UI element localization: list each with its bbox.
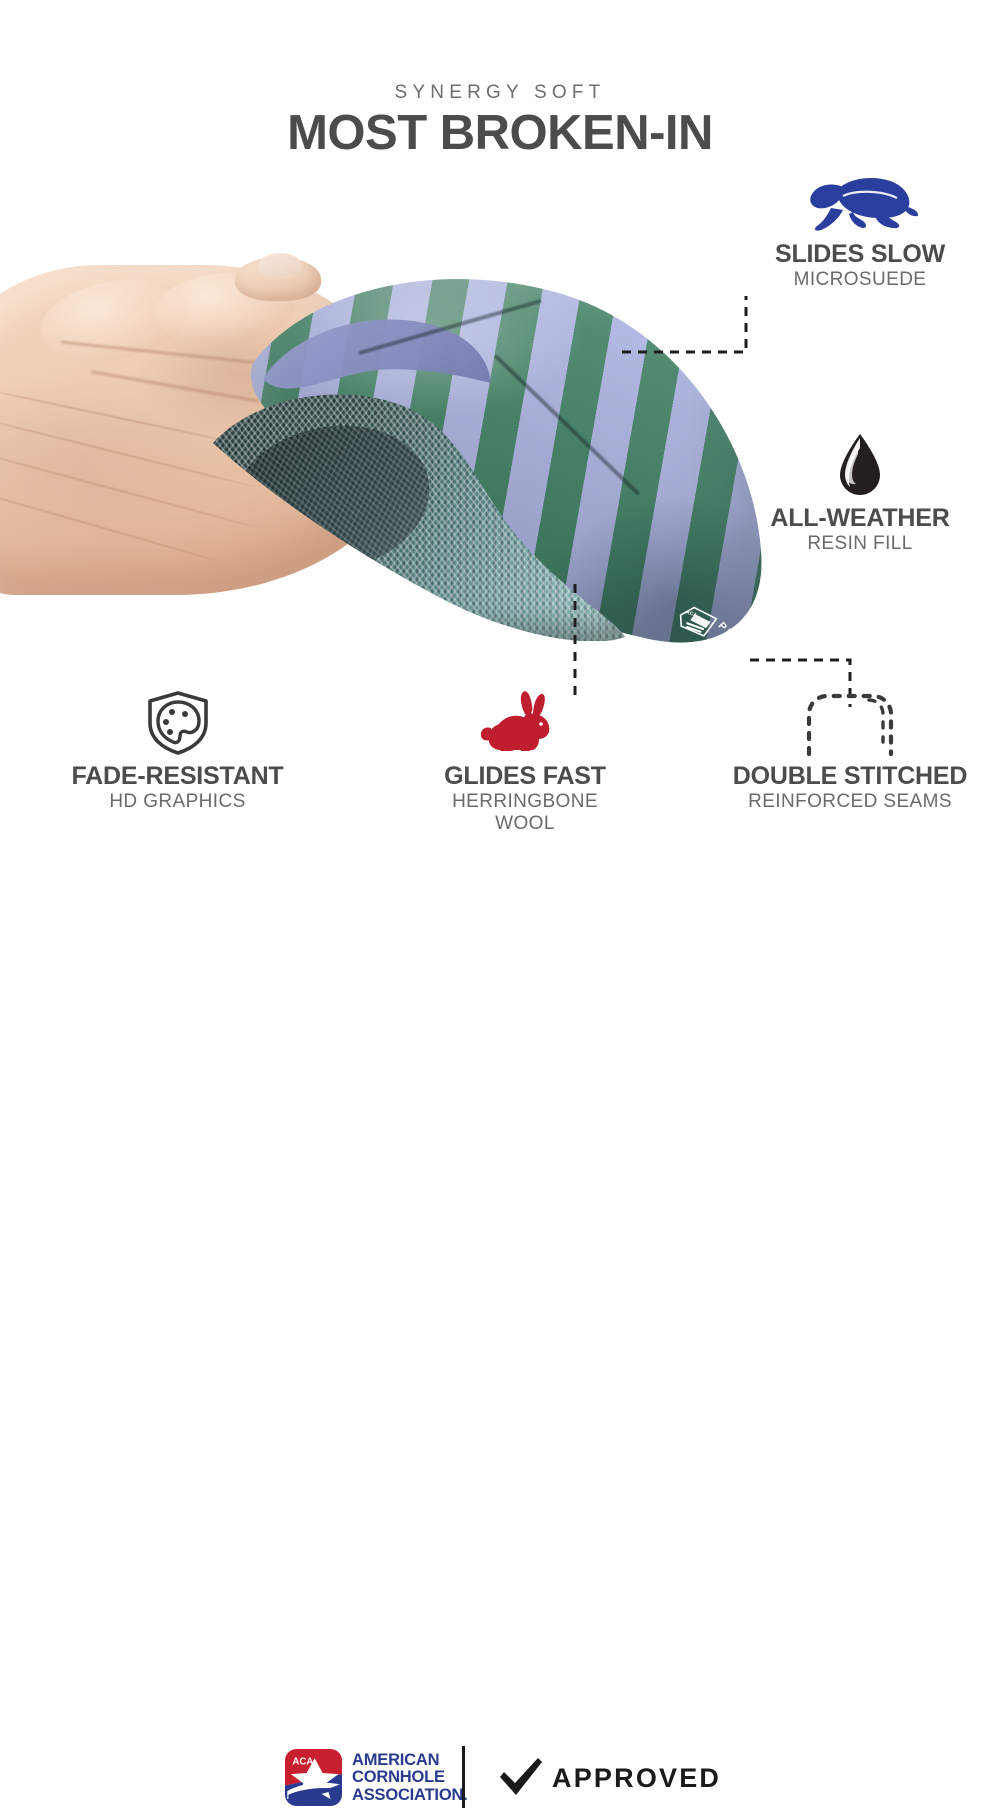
svg-text:ACA: ACA xyxy=(685,609,698,619)
palm-crease xyxy=(0,486,219,562)
aca-line-2: CORNHOLE xyxy=(352,1769,468,1786)
footer-bar: ACA AMERICAN CORNHOLE ASSOCIATION. APPRO… xyxy=(0,868,1000,963)
feature-subtitle: MICROSUEDE xyxy=(735,269,985,290)
feature-title: FADE-RESISTANT xyxy=(35,764,320,790)
feature-glides-fast: GLIDES FAST HERRINGBONE WOOL xyxy=(400,690,650,834)
aca-line-3: ASSOCIATION. xyxy=(352,1787,468,1804)
feature-subtitle-line1: HERRINGBONE xyxy=(400,791,650,812)
eyebrow-text: SYNERGY SOFT xyxy=(0,82,1000,104)
footer-divider xyxy=(462,1746,465,1808)
checkmark-icon xyxy=(498,1756,544,1798)
feature-title: DOUBLE STITCHED xyxy=(700,764,1000,790)
wool-shadow-area xyxy=(218,408,445,596)
stitched-seam-icon xyxy=(791,690,909,756)
feature-subtitle: RESIN FILL xyxy=(735,533,985,554)
infographic-canvas: SYNERGY SOFT MOST BROKEN-IN xyxy=(0,0,1000,1000)
aca-logo: ACA xyxy=(285,1749,342,1806)
svg-text:ACA: ACA xyxy=(292,1756,313,1767)
turtle-icon xyxy=(801,172,919,234)
connector-slides-slow xyxy=(600,280,800,370)
feature-slides-slow: SLIDES SLOW MICROSUEDE xyxy=(735,172,985,290)
feature-double-stitched: DOUBLE STITCHED REINFORCED SEAMS xyxy=(700,690,1000,812)
approved-label: APPROVED xyxy=(552,1763,721,1794)
feature-subtitle: REINFORCED SEAMS xyxy=(700,791,1000,812)
feature-subtitle: HD GRAPHICS xyxy=(35,791,320,812)
aca-wordmark: AMERICAN CORNHOLE ASSOCIATION. xyxy=(352,1752,468,1804)
rabbit-icon xyxy=(479,690,571,756)
feature-title: GLIDES FAST xyxy=(400,764,650,790)
feature-title: SLIDES SLOW xyxy=(735,242,985,268)
palm-crease xyxy=(0,388,237,444)
water-drop-icon xyxy=(834,432,886,498)
page-title: MOST BROKEN-IN xyxy=(0,108,1000,159)
shield-palette-icon xyxy=(144,690,212,756)
feature-title: ALL-WEATHER xyxy=(735,506,985,532)
feature-fade-resistant: FADE-RESISTANT HD GRAPHICS xyxy=(35,690,320,812)
feature-subtitle-line2: WOOL xyxy=(400,813,650,834)
aca-line-1: AMERICAN xyxy=(352,1752,468,1769)
feature-all-weather: ALL-WEATHER RESIN FILL xyxy=(735,432,985,554)
